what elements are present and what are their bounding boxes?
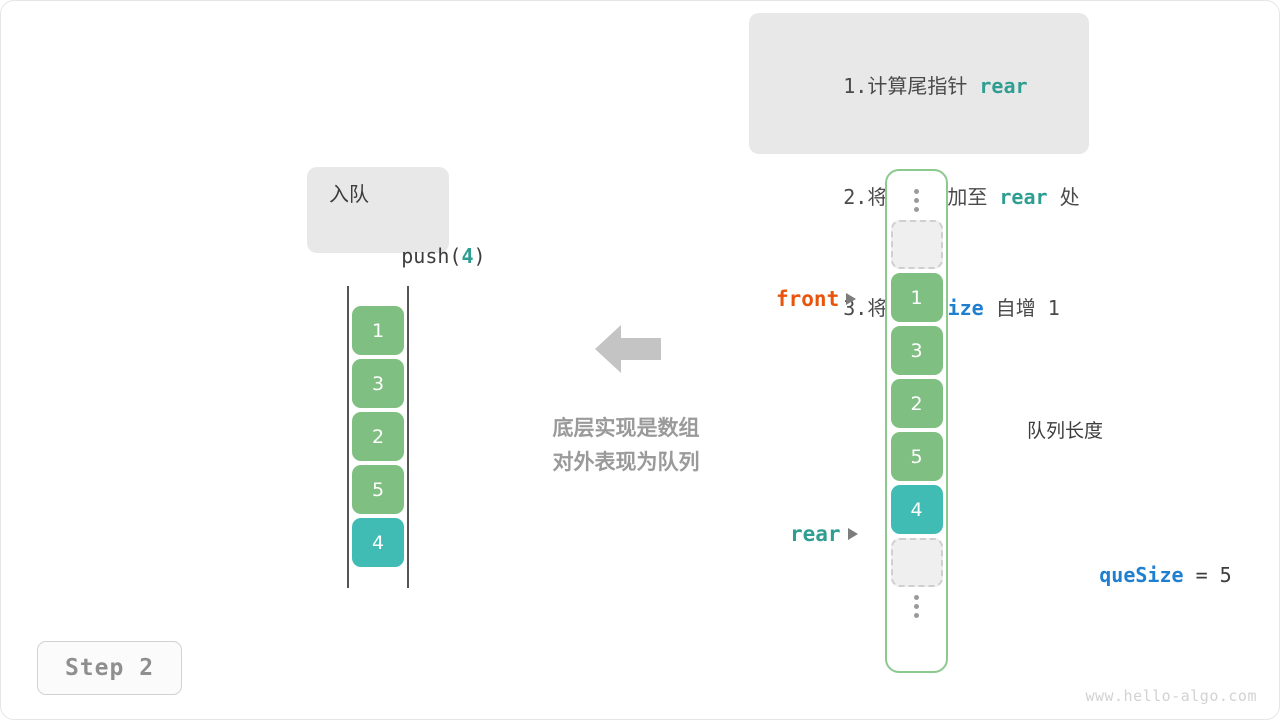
instruction-2-number: 2. [843,185,867,209]
quesize-note: 队列长度 queSize = 5 [1027,341,1232,701]
memory-cell-empty [891,538,943,587]
memory-cell: 5 [891,432,943,481]
queue-abstract-view: 1 3 2 5 4 [347,286,409,588]
queue-cell: 2 [352,412,404,461]
memory-cell: 1 [891,273,943,322]
queue-rail-left [347,286,349,588]
left-arrow-icon [595,323,661,375]
front-pointer-arrow-icon [846,293,856,305]
center-caption-line-1: 底层实现是数组 [528,411,724,445]
queue-cell: 3 [352,359,404,408]
operation-panel: 入队 push(4) [307,167,449,253]
queue-rail-right [407,286,409,588]
front-pointer-text: front [776,287,839,311]
quesize-note-title: 队列长度 [1027,413,1232,449]
operation-call-prefix: push( [401,244,461,268]
instruction-1-code: rear [979,74,1027,98]
instruction-2-code: rear [999,185,1047,209]
bottom-ellipsis-icon [914,587,919,626]
top-ellipsis-icon [914,181,919,220]
instruction-2-post: 处 [1048,185,1080,209]
quesize-variable: queSize [1099,563,1183,587]
memory-cell: 2 [891,379,943,428]
queue-cell-new: 4 [352,518,404,567]
instruction-1-number: 1. [843,74,867,98]
rear-pointer-label: rear [790,522,858,546]
quesize-value: 5 [1220,563,1232,587]
step-badge: Step 2 [37,641,182,695]
center-caption-line-2: 对外表现为队列 [528,445,724,479]
queue-cell: 5 [352,465,404,514]
memory-cell: 3 [891,326,943,375]
instruction-3-post: 自增 1 [984,296,1060,320]
rear-pointer-arrow-icon [848,528,858,540]
diagram-canvas: 1.计算尾指针 rear 2.将元素添加至 rear 处 3.将 queSize… [0,0,1280,720]
quesize-note-value-line: queSize = 5 [1027,521,1232,629]
instruction-line-1: 1.计算尾指针 rear [771,31,1067,142]
array-memory-view: 1 3 2 5 4 [885,169,948,673]
watermark: www.hello-algo.com [1085,687,1257,705]
queue-cell: 1 [352,306,404,355]
center-caption: 底层实现是数组 对外表现为队列 [528,411,724,479]
queue-cell-list: 1 3 2 5 4 [352,306,404,567]
operation-title: 入队 [329,179,449,210]
memory-cell-list: 1 3 2 5 4 [891,220,943,587]
memory-cell-new: 4 [891,485,943,534]
memory-cell-empty [891,220,943,269]
operation-call-value: 4 [461,244,473,268]
rear-pointer-text: rear [790,522,841,546]
instruction-1-text: 计算尾指针 [867,74,979,98]
quesize-equals: = [1184,563,1220,587]
front-pointer-label: front [776,287,856,311]
operation-call-suffix: ) [474,244,486,268]
instruction-panel: 1.计算尾指针 rear 2.将元素添加至 rear 处 3.将 queSize… [749,13,1089,154]
